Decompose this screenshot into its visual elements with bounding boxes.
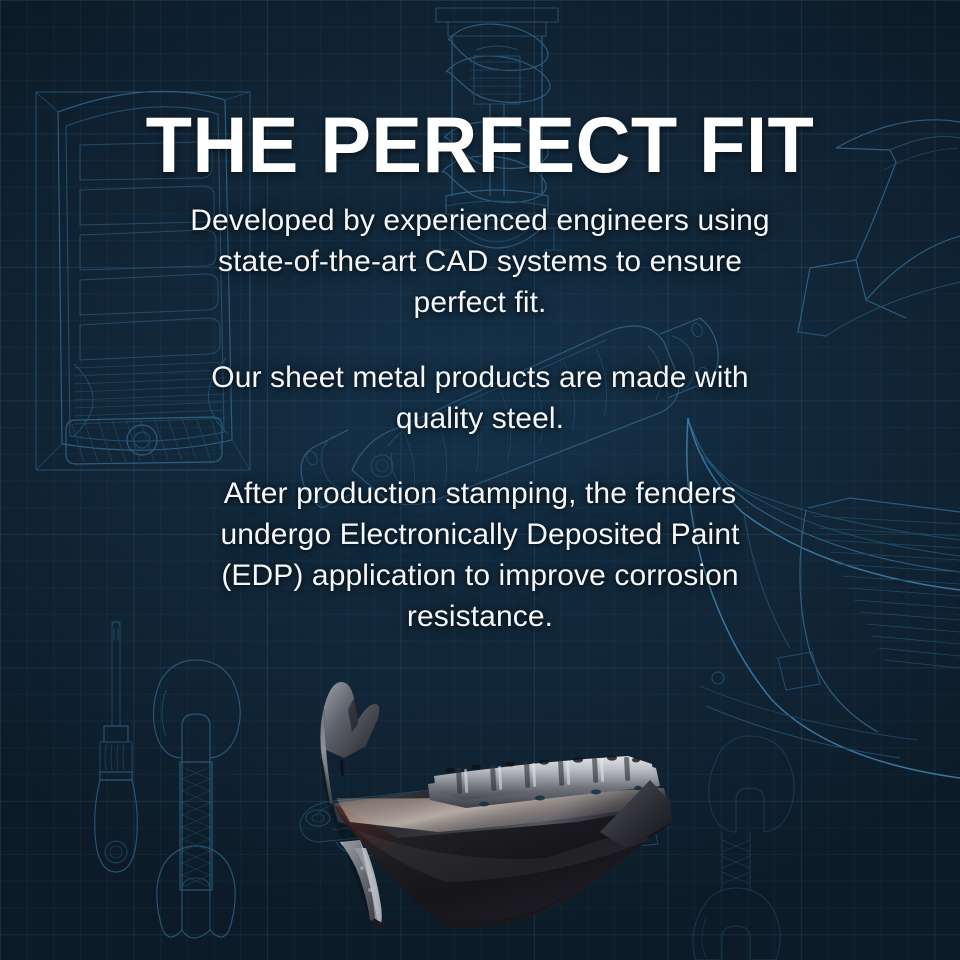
paragraph-1: Developed by experienced engineers using… (180, 200, 780, 323)
poster-canvas: THE PERFECT FIT Developed by experienced… (0, 0, 960, 960)
paragraph-2: Our sheet metal products are made with q… (180, 357, 780, 439)
page-title: THE PERFECT FIT (19, 105, 941, 184)
paragraph-3: After production stamping, the fenders u… (180, 473, 780, 637)
body-copy-block: Developed by experienced engineers using… (180, 200, 780, 637)
product-image-fender (278, 672, 708, 934)
